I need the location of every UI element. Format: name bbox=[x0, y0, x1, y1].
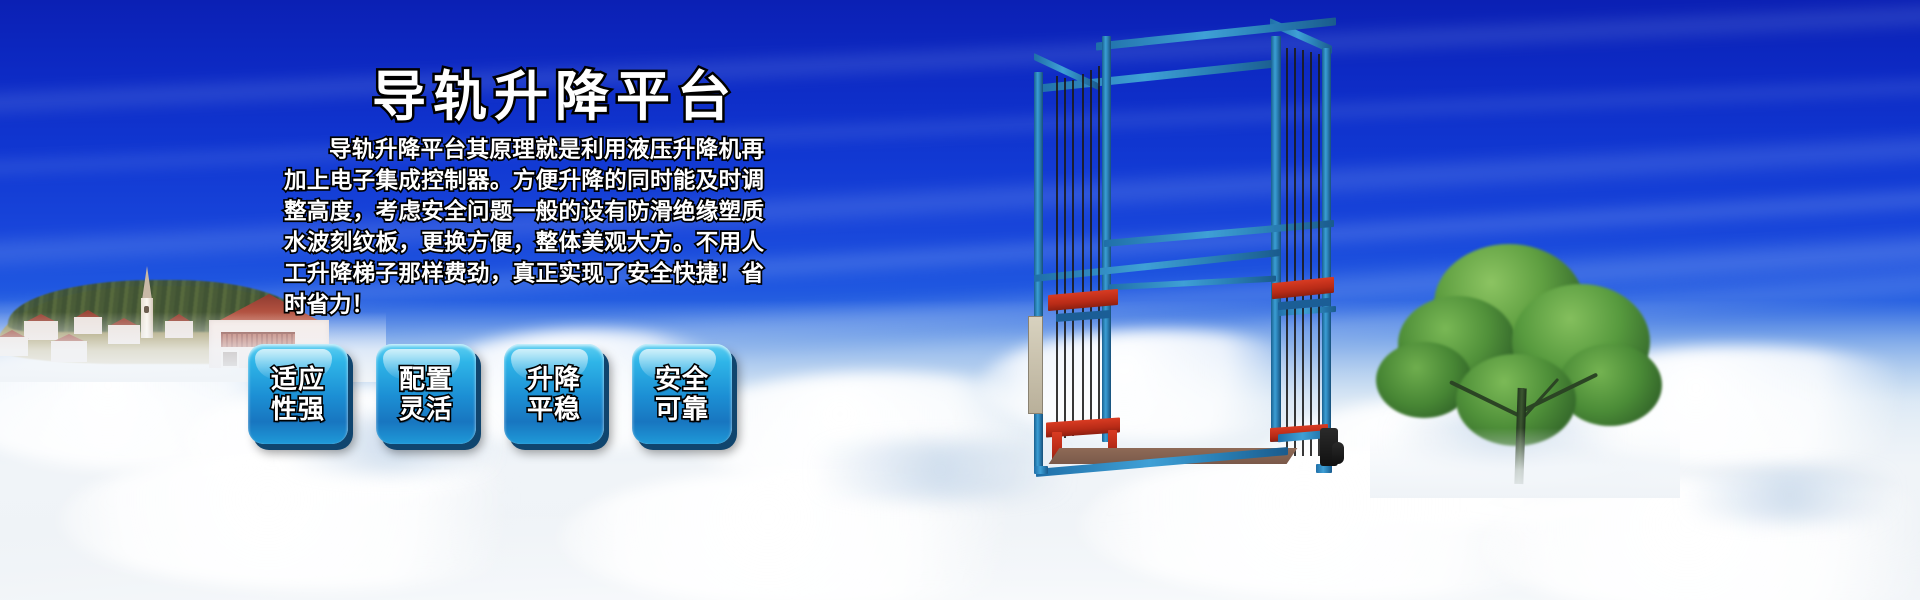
feature-configuration[interactable]: 配置 灵活 bbox=[376, 344, 476, 444]
feature-adaptability-label: 适应 性强 bbox=[271, 364, 325, 424]
feature-label-line2: 可靠 bbox=[655, 394, 709, 424]
feature-label-line1: 安全 bbox=[655, 364, 709, 394]
guide-rail-lift-platform-product bbox=[1020, 18, 1340, 488]
product-description: 导轨升降平台其原理就是利用液压升降机再加上电子集成控制器。方便升降的同时能及时调… bbox=[284, 134, 764, 320]
feature-configuration-label: 配置 灵活 bbox=[399, 364, 453, 424]
feature-adaptability[interactable]: 适应 性强 bbox=[248, 344, 348, 444]
feature-label-line2: 灵活 bbox=[399, 394, 453, 424]
feature-safety-label: 安全 可靠 bbox=[655, 364, 709, 424]
feature-safety[interactable]: 安全 可靠 bbox=[632, 344, 732, 444]
product-banner: 导轨升降平台 导轨升降平台其原理就是利用液压升降机再加上电子集成控制器。方便升降… bbox=[0, 0, 1920, 600]
feature-label-line1: 升降 bbox=[527, 364, 581, 394]
feature-smooth-lift[interactable]: 升降 平稳 bbox=[504, 344, 604, 444]
feature-button-row: 适应 性强 配置 灵活 升降 平稳 安全 可靠 bbox=[248, 344, 732, 444]
feature-label-line1: 适应 bbox=[271, 364, 325, 394]
tree bbox=[1390, 238, 1660, 488]
feature-label-line2: 平稳 bbox=[527, 394, 581, 424]
page-title: 导轨升降平台 bbox=[372, 52, 738, 131]
tree-mist bbox=[1370, 428, 1680, 498]
feature-label-line1: 配置 bbox=[399, 364, 453, 394]
feature-smooth-lift-label: 升降 平稳 bbox=[527, 364, 581, 424]
control-panel bbox=[1028, 316, 1043, 414]
feature-label-line2: 性强 bbox=[271, 394, 325, 424]
